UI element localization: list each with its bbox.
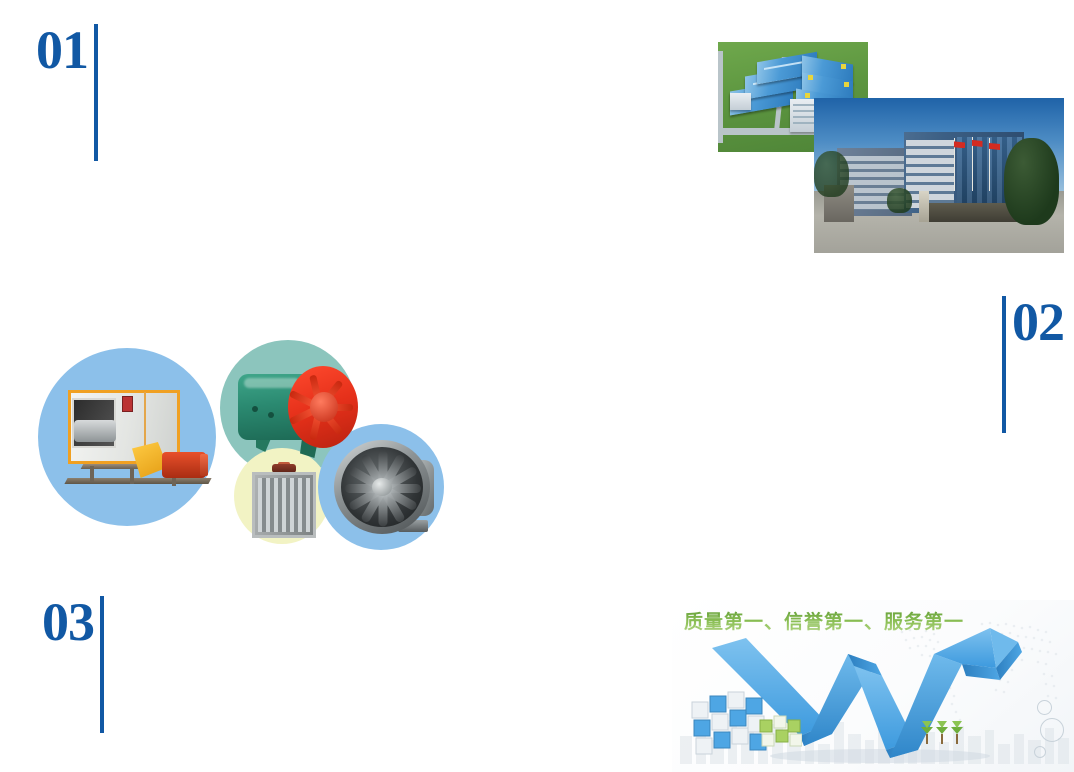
- product-circles-cluster: [34, 316, 424, 556]
- green-cube-cluster-icon: [758, 710, 802, 752]
- damper-blades: [258, 478, 310, 532]
- photo-flag-3: [989, 143, 1000, 150]
- section-rule-03: [100, 596, 104, 733]
- render-road-left: [718, 51, 723, 143]
- fan-base-rail-front: [64, 478, 211, 484]
- photo-tree-right: [1004, 138, 1059, 225]
- section-number-02: 02: [1002, 296, 1064, 433]
- fan-leg-2: [130, 468, 134, 484]
- render-marker-1: [841, 64, 846, 69]
- growth-arrow-banner: 质量第一、信誉第一、服务第一: [672, 600, 1074, 772]
- axial-fan-port-1: [252, 406, 258, 412]
- photo-flag-1: [954, 141, 965, 148]
- fan-impeller-wheel: [74, 420, 116, 442]
- bubble-tiny: [1034, 746, 1046, 758]
- axial-fan-hub: [310, 392, 338, 422]
- section-number-02-label: 02: [1012, 296, 1064, 348]
- fire-damper-valve: [248, 462, 320, 542]
- metal-axial-fan: [328, 436, 438, 540]
- render-marker-4: [805, 93, 810, 98]
- fan-leg-1: [90, 466, 94, 482]
- section-rule-02: [1002, 296, 1006, 433]
- photo-flag-2: [972, 140, 983, 147]
- office-building-photo: [814, 98, 1064, 253]
- section-number-03: 03: [42, 596, 104, 733]
- section-number-01-label: 01: [36, 24, 88, 76]
- metal-fan-nose-cone: [372, 478, 392, 496]
- section-number-01: 01: [36, 24, 98, 161]
- axial-fan-port-2: [268, 412, 274, 418]
- section-number-03-label: 03: [42, 596, 94, 648]
- photo-shrub: [887, 188, 912, 213]
- photo-gate-pillar: [919, 191, 929, 222]
- bubble-small: [1037, 700, 1052, 715]
- photo-tree-left: [814, 151, 849, 198]
- render-marker-3: [808, 75, 813, 80]
- render-side-block: [730, 93, 751, 111]
- render-marker-2: [844, 82, 849, 87]
- bubble-large: [1040, 718, 1064, 742]
- section-rule-01: [94, 24, 98, 161]
- quality-slogan-text: 质量第一、信誉第一、服务第一: [684, 607, 964, 634]
- fan-motor-end-cap: [200, 454, 208, 476]
- fan-control-panel: [122, 396, 133, 412]
- green-trees-icon: [920, 716, 966, 746]
- slide-canvas: 01: [0, 0, 1074, 772]
- cabinet-centrifugal-fan: [60, 382, 212, 502]
